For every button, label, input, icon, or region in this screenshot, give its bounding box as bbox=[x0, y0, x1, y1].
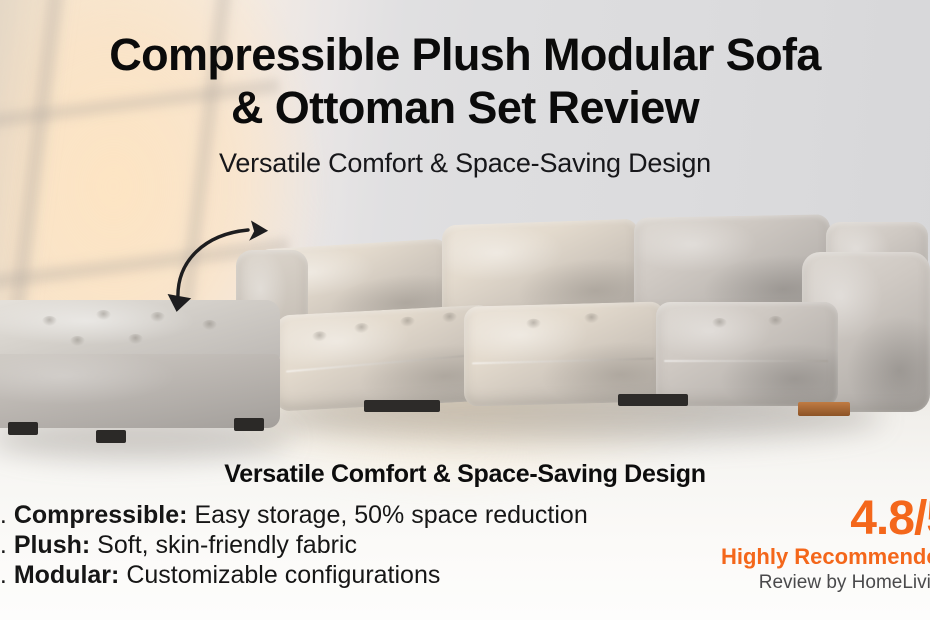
sofa-seat-cushion bbox=[656, 302, 838, 406]
rating-badge: 4.8/5 Highly Recommended Review by HomeL… bbox=[652, 496, 930, 595]
sofa-leg bbox=[618, 394, 688, 406]
list-item: 3. Modular: Customizable configurations bbox=[0, 560, 666, 590]
sofa-seat-cushion bbox=[276, 304, 492, 411]
rating-recommendation: Highly Recommended bbox=[652, 544, 930, 570]
feature-number: 2. bbox=[0, 531, 7, 559]
feature-text: Easy storage, 50% space reduction bbox=[194, 501, 587, 529]
page-title: Compressible Plush Modular Sofa & Ottoma… bbox=[0, 28, 930, 134]
rating-score: 4.8/5 bbox=[652, 496, 930, 542]
ottoman-foot bbox=[234, 418, 264, 431]
headline-line-2: & Ottoman Set Review bbox=[0, 81, 930, 134]
double-headed-curved-arrow bbox=[148, 212, 278, 322]
sofa-seat-cushion bbox=[464, 301, 664, 406]
feature-text: Soft, skin-friendly fabric bbox=[97, 531, 357, 559]
review-byline: Review by HomeLiving bbox=[652, 571, 930, 595]
feature-label: Compressible: bbox=[14, 501, 188, 529]
ottoman-foot bbox=[96, 430, 126, 443]
list-item: 2. Plush: Soft, skin-friendly fabric bbox=[0, 530, 666, 560]
ottoman-front bbox=[0, 354, 280, 428]
feature-number: 3. bbox=[0, 561, 7, 589]
sofa-leg bbox=[364, 400, 440, 412]
feature-label: Plush: bbox=[14, 531, 90, 559]
review-poster: Compressible Plush Modular Sofa & Ottoma… bbox=[0, 0, 930, 620]
feature-text: Customizable configurations bbox=[126, 561, 440, 589]
feature-label: Modular: bbox=[14, 561, 120, 589]
section-heading: Versatile Comfort & Space-Saving Design bbox=[0, 460, 930, 489]
modular-sofa bbox=[236, 206, 930, 432]
subtitle: Versatile Comfort & Space-Saving Design bbox=[0, 148, 930, 179]
list-item: 1. Compressible: Easy storage, 50% space… bbox=[0, 500, 666, 530]
sofa-leg-wood bbox=[798, 402, 850, 416]
headline-line-1: Compressible Plush Modular Sofa bbox=[0, 28, 930, 81]
feature-list: 1. Compressible: Easy storage, 50% space… bbox=[0, 500, 666, 590]
ottoman-foot bbox=[8, 422, 38, 435]
feature-number: 1. bbox=[0, 501, 7, 529]
